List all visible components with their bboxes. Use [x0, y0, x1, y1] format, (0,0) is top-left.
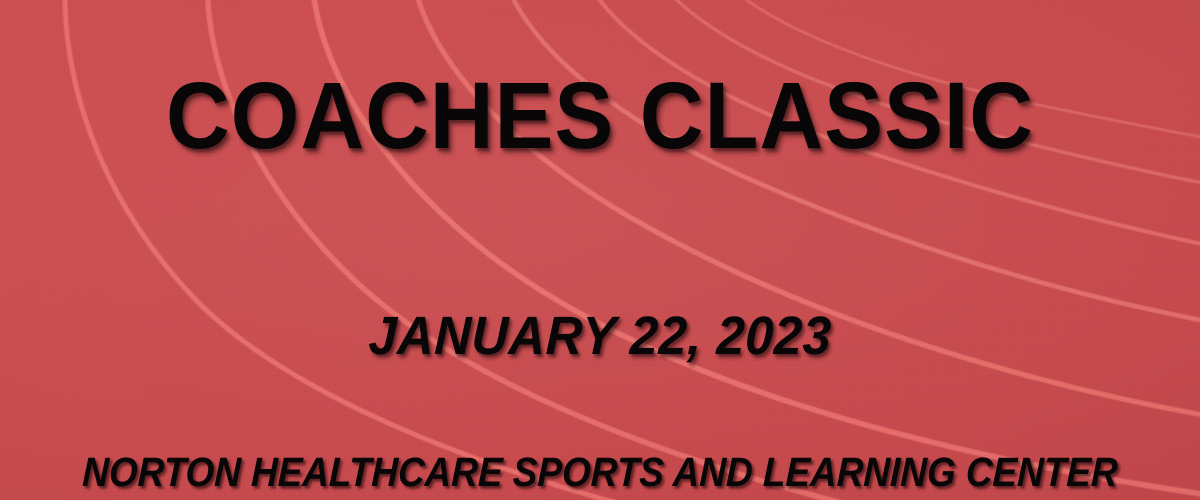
event-banner: COACHES CLASSIC JANUARY 22, 2023 NORTON … — [0, 0, 1200, 500]
event-title: COACHES CLASSIC — [42, 69, 1158, 164]
event-date: JANUARY 22, 2023 — [35, 309, 1165, 363]
event-venue: NORTON HEALTHCARE SPORTS AND LEARNING CE… — [59, 452, 1140, 493]
banner-text-layer: COACHES CLASSIC JANUARY 22, 2023 NORTON … — [0, 0, 1200, 500]
